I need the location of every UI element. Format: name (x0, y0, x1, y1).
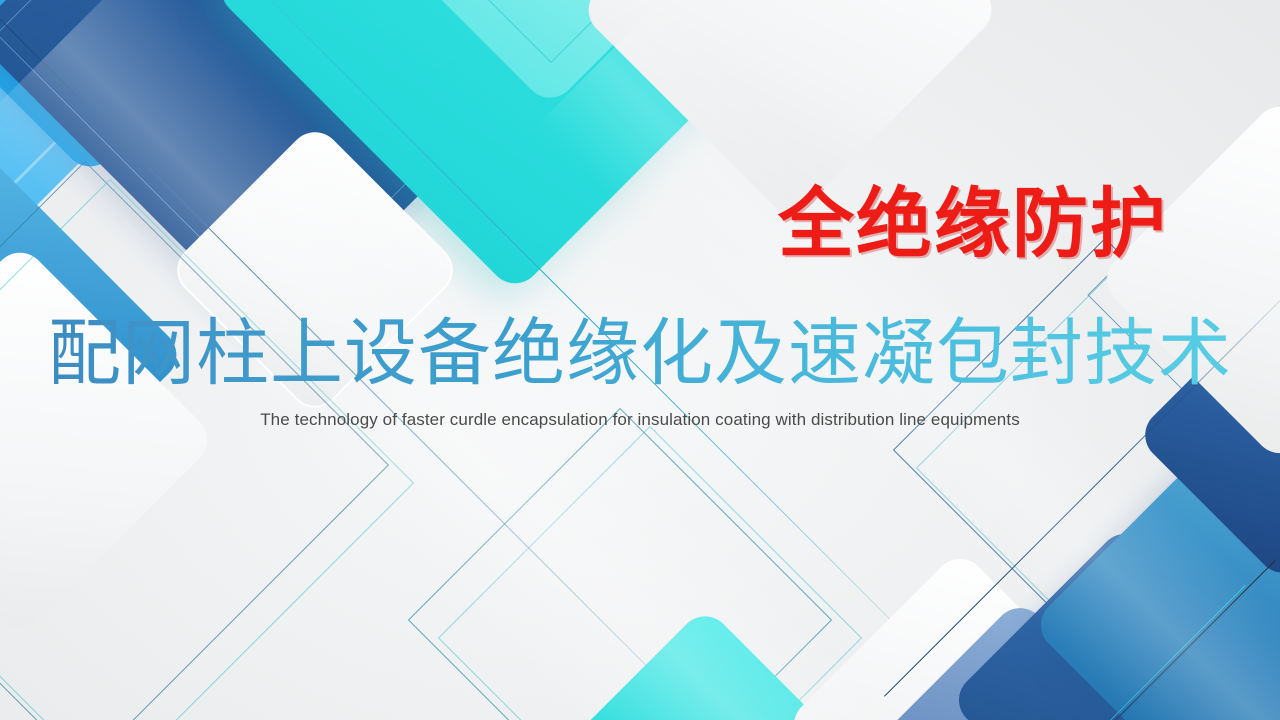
main-title: 配网柱上设备绝缘化及速凝包封技术 (0, 316, 1280, 393)
title-text-block: 全绝缘防护 配网柱上设备绝缘化及速凝包封技术 The technology of… (0, 0, 1280, 720)
red-headline: 全绝缘防护 (0, 186, 1168, 262)
title-slide: 全绝缘防护 配网柱上设备绝缘化及速凝包封技术 The technology of… (0, 0, 1280, 720)
english-subtitle: The technology of faster curdle encapsul… (0, 410, 1280, 430)
